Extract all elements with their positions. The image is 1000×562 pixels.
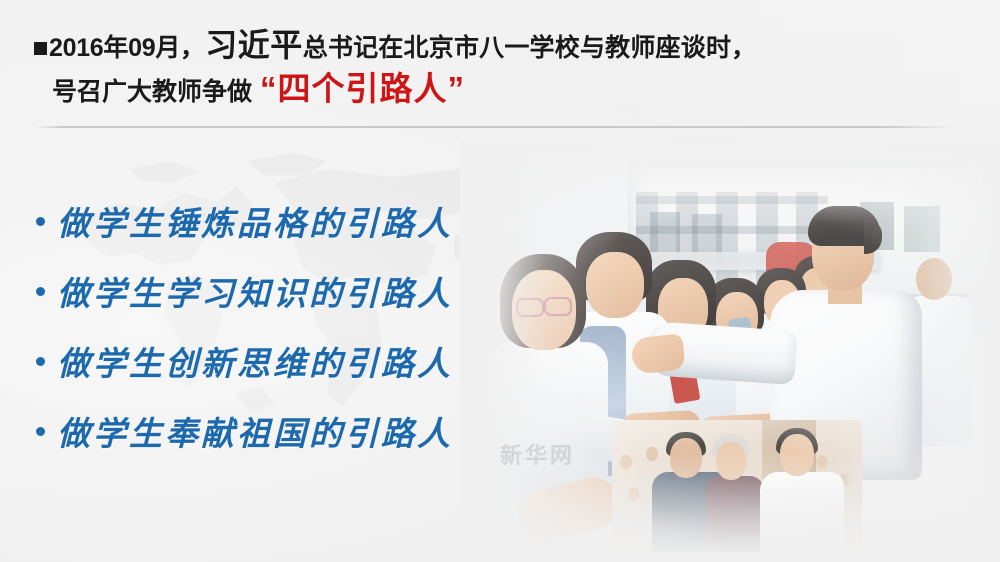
title-divider — [36, 126, 956, 128]
photo-inset-elderly-visit — [612, 420, 862, 552]
slide-canvas: 新华网 2016年09月，习近平总书记在北京市八一学校与教师座谈时， 号召广大教… — [0, 0, 1000, 562]
title-comma: ， — [180, 34, 205, 62]
list-item: 做学生创新思维的引路人 — [36, 326, 556, 396]
list-item: 做学生锤炼品格的引路人 — [36, 186, 556, 256]
list-item-label: 做学生锤炼品格的引路人 — [57, 197, 453, 245]
list-item-label: 做学生学习知识的引路人 — [57, 267, 453, 315]
bullet-dot-icon — [36, 427, 45, 436]
list-item-label: 做学生奉献祖国的引路人 — [57, 407, 453, 455]
title-leader-name: 习近平 — [205, 27, 303, 63]
title-line-1-rest: 总书记在北京市八一学校与教师座谈时， — [303, 34, 757, 62]
photo-leader-hand — [630, 333, 685, 374]
inset-feather-mask — [612, 420, 862, 552]
slide-title: 2016年09月，习近平总书记在北京市八一学校与教师座谈时， 号召广大教师争做“… — [0, 28, 640, 108]
bullet-dot-icon — [36, 217, 45, 226]
title-call-text: 号召广大教师争做 — [52, 78, 252, 106]
title-highlight: “四个引路人” — [260, 70, 465, 107]
title-date: 2016年09月 — [49, 34, 180, 62]
list-item: 做学生学习知识的引路人 — [36, 256, 556, 326]
photo-background-person-head — [916, 258, 952, 300]
list-item-label: 做学生创新思维的引路人 — [57, 337, 453, 385]
square-bullet-icon — [34, 42, 47, 55]
title-line-2: 号召广大教师争做“四个引路人” — [0, 71, 640, 108]
list-item: 做学生奉献祖国的引路人 — [36, 396, 556, 466]
photo-window — [904, 206, 940, 252]
guide-list: 做学生锤炼品格的引路人 做学生学习知识的引路人 做学生创新思维的引路人 做学生奉… — [36, 186, 556, 466]
title-line-1: 2016年09月，习近平总书记在北京市八一学校与教师座谈时， — [0, 28, 640, 64]
bullet-dot-icon — [36, 357, 45, 366]
bullet-dot-icon — [36, 287, 45, 296]
photo-student-face — [586, 252, 644, 318]
